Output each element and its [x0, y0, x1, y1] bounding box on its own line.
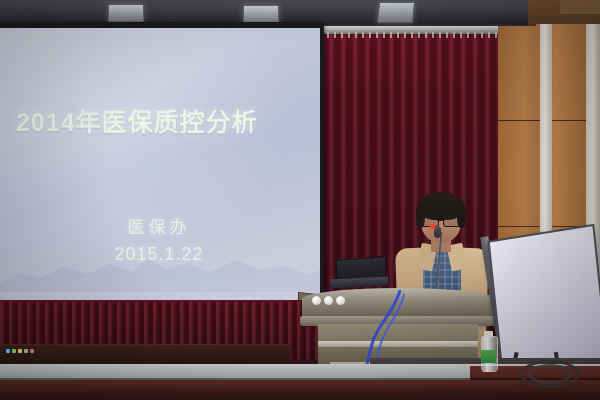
lectern-button-icon[interactable]	[336, 296, 345, 305]
bottle-label	[481, 350, 496, 363]
glasses-bridge	[437, 219, 444, 221]
ceiling-beam	[560, 0, 600, 14]
lectern-control-panel[interactable]	[312, 296, 358, 306]
desk-indicator-light	[30, 349, 34, 353]
stage-edge	[0, 380, 600, 400]
coiled-cable	[528, 364, 572, 384]
ceiling-light-icon	[377, 2, 415, 23]
desk-indicator-light	[12, 349, 16, 353]
lectern-button-icon[interactable]	[324, 296, 333, 305]
slide-organization: 医保办	[0, 213, 320, 238]
presentation-room-photo: 2014年医保质控分析 医保办 2015.1.22	[0, 0, 600, 400]
microphone-indicator-light	[430, 224, 435, 229]
desk-indicator-light	[6, 349, 10, 353]
slide-title: 2014年医保质控分析	[16, 110, 306, 138]
desk-indicator-light	[24, 349, 28, 353]
bottle-cap	[484, 331, 493, 337]
ceiling-light-icon	[108, 4, 144, 22]
ceiling-light-icon	[243, 5, 279, 23]
slide-date: 2015.1.22	[0, 244, 320, 265]
microphone-head	[434, 226, 441, 238]
lectern-button-icon[interactable]	[312, 296, 321, 305]
whiteboard-panel[interactable]	[488, 224, 600, 376]
glasses-icon	[443, 215, 460, 227]
desk-indicator-light	[18, 349, 22, 353]
projection-screen[interactable]: 2014年医保质控分析 医保办 2015.1.22	[0, 28, 320, 304]
